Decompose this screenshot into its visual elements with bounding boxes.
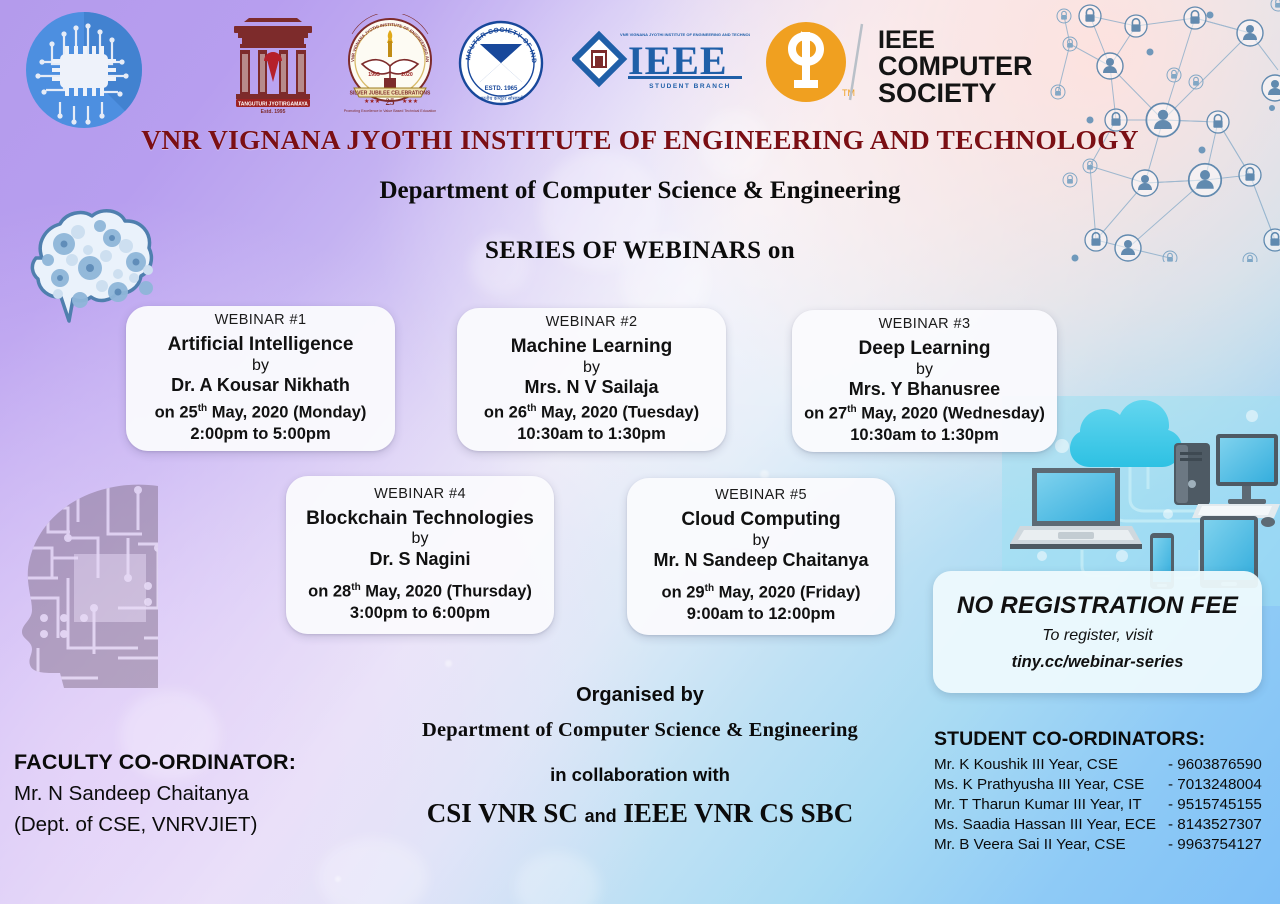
registration-link[interactable]: tiny.cc/webinar-series xyxy=(1012,653,1184,672)
registration-box: NO REGISTRATION FEE To register, visit t… xyxy=(933,571,1262,693)
webinar-by-label: by xyxy=(802,360,1047,380)
webinar-topic: Cloud Computing xyxy=(637,509,885,531)
svg-text:★★★: ★★★ xyxy=(364,98,380,105)
student-name: Mr. T Tharun Kumar III Year, IT xyxy=(934,794,1156,814)
svg-text:1995: 1995 xyxy=(368,72,380,78)
organised-by-label: Organised by xyxy=(330,684,950,707)
webinar-number: WEBINAR #4 xyxy=(296,486,544,502)
svg-text:COMPUTER: COMPUTER xyxy=(878,51,1033,81)
student-coordinators-heading: STUDENT CO-ORDINATORS: xyxy=(934,728,1262,751)
bokeh-dot xyxy=(335,876,341,882)
svg-text:25: 25 xyxy=(386,97,396,107)
svg-text:भारतीय कंप्यूटर सोसाइटी: भारतीय कंप्यूटर सोसाइटी xyxy=(478,95,524,102)
webinar-by-label: by xyxy=(637,531,885,551)
webinar-speaker: Mrs. Y Bhanusree xyxy=(802,379,1047,400)
svg-text:SILVER JUBILEE CELEBRATIONS: SILVER JUBILEE CELEBRATIONS xyxy=(350,91,431,97)
ieee-student-branch-logo: VNR VIGNANA JYOTHI INSTITUTE OF ENGINEER… xyxy=(572,26,750,92)
student-phone: - 7013248004 xyxy=(1156,774,1262,794)
collaboration-label: in collaboration with xyxy=(330,764,950,786)
webinar-card: WEBINAR #3 Deep Learning by Mrs. Y Bhanu… xyxy=(792,310,1057,452)
webinar-date: on 26th May, 2020 (Tuesday) xyxy=(467,402,716,424)
webinar-topic: Deep Learning xyxy=(802,338,1047,360)
collaborator-csi: CSI VNR SC xyxy=(427,798,578,828)
table-row: Ms. Saadia Hassan III Year, ECE - 814352… xyxy=(934,814,1262,834)
webinar-number: WEBINAR #5 xyxy=(637,487,885,503)
webinar-time: 2:00pm to 5:00pm xyxy=(136,424,385,445)
organising-department: Department of Computer Science & Enginee… xyxy=(330,719,950,742)
webinar-speaker: Dr. S Nagini xyxy=(296,549,544,570)
table-row: Ms. K Prathyusha III Year, CSE - 7013248… xyxy=(934,774,1262,794)
webinar-speaker: Mrs. N V Sailaja xyxy=(467,377,716,398)
faculty-coordinator-affiliation: (Dept. of CSE, VNRVJIET) xyxy=(14,813,296,837)
svg-text:2020: 2020 xyxy=(401,72,413,78)
organised-by-block: Organised by Department of Computer Scie… xyxy=(330,684,950,829)
webinar-date: on 27th May, 2020 (Wednesday) xyxy=(802,403,1047,425)
webinar-time: 10:30am to 1:30pm xyxy=(467,424,716,445)
circuit-head-icon xyxy=(8,478,196,688)
vnrvjiet-silver-jubilee-logo: 1995 2020 VNR VIGNANA JYOTHI INSTITUTE O… xyxy=(344,14,436,114)
student-phone: - 9603876590 xyxy=(1156,754,1262,774)
webinar-speaker: Dr. A Kousar Nikhath xyxy=(136,375,385,396)
institute-title: VNR VIGNANA JYOTHI INSTITUTE OF ENGINEER… xyxy=(0,124,1280,156)
department-title: Department of Computer Science & Enginee… xyxy=(0,177,1280,205)
faculty-coordinator-heading: FACULTY CO-ORDINATOR: xyxy=(14,750,296,775)
webinar-by-label: by xyxy=(467,358,716,378)
collaborator-conjunction: and xyxy=(585,806,617,826)
webinar-time: 10:30am to 1:30pm xyxy=(802,425,1047,446)
webinar-time: 3:00pm to 6:00pm xyxy=(296,603,544,624)
faculty-coordinator-block: FACULTY CO-ORDINATOR: Mr. N Sandeep Chai… xyxy=(14,750,296,837)
svg-text:TM: TM xyxy=(842,88,855,98)
series-heading: SERIES OF WEBINARS on xyxy=(0,237,1280,265)
webinar-time: 9:00am to 12:00pm xyxy=(637,604,885,625)
webinar-speaker: Mr. N Sandeep Chaitanya xyxy=(637,550,885,571)
student-name: Ms. K Prathyusha III Year, CSE xyxy=(934,774,1156,794)
tanguturi-jyothirgamaya-logo: TANGUTURI JYOTIRGAMAYA Estd. 1995 xyxy=(228,16,318,114)
registration-fee-text: NO REGISTRATION FEE xyxy=(957,592,1238,620)
svg-text:TANGUTURI JYOTIRGAMAYA: TANGUTURI JYOTIRGAMAYA xyxy=(238,102,308,108)
webinar-date: on 25th May, 2020 (Monday) xyxy=(136,402,385,424)
webinar-number: WEBINAR #3 xyxy=(802,316,1047,332)
faculty-coordinator-name: Mr. N Sandeep Chaitanya xyxy=(14,782,296,806)
student-name: Mr. B Veera Sai II Year, CSE xyxy=(934,834,1156,854)
student-name: Mr. K Koushik III Year, CSE xyxy=(934,754,1156,774)
webinar-card: WEBINAR #4 Blockchain Technologies by Dr… xyxy=(286,476,554,634)
webinar-date: on 28th May, 2020 (Thursday) xyxy=(296,581,544,603)
table-row: Mr. B Veera Sai II Year, CSE - 996375412… xyxy=(934,834,1262,854)
webinar-number: WEBINAR #1 xyxy=(136,312,385,328)
webinar-topic: Artificial Intelligence xyxy=(136,334,385,356)
ieee-computer-society-logo: TM IEEE COMPUTER SOCIETY xyxy=(762,18,1034,106)
registration-instruction: To register, visit xyxy=(1042,627,1153,645)
webinar-number: WEBINAR #2 xyxy=(467,314,716,330)
student-phone: - 8143527307 xyxy=(1156,814,1262,834)
webinar-by-label: by xyxy=(136,356,385,376)
table-row: Mr. K Koushik III Year, CSE - 9603876590 xyxy=(934,754,1262,774)
bokeh-blob xyxy=(318,838,428,904)
svg-text:ESTD. 1965: ESTD. 1965 xyxy=(485,86,518,92)
collaborator-ieee: IEEE VNR CS SBC xyxy=(623,798,853,828)
webinar-topic: Blockchain Technologies xyxy=(296,508,544,530)
svg-text:STUDENT BRANCH: STUDENT BRANCH xyxy=(649,83,731,90)
bokeh-dot xyxy=(445,660,452,667)
svg-text:Promoting Excellence in Value: Promoting Excellence in Value Based Tech… xyxy=(344,109,436,113)
csi-logo: COMPUTER SOCIETY OF INDIA ESTD. 1965 भार… xyxy=(458,20,544,106)
svg-text:IEEE: IEEE xyxy=(878,26,935,54)
header-logos: TANGUTURI JYOTIRGAMAYA Estd. 1995 1995 2… xyxy=(0,0,1280,118)
svg-text:Estd. 1995: Estd. 1995 xyxy=(261,109,286,114)
webinar-by-label: by xyxy=(296,529,544,549)
svg-text:VNR VIGNANA JYOTHI INSTITUTE O: VNR VIGNANA JYOTHI INSTITUTE OF ENGINEER… xyxy=(620,32,750,37)
student-coordinators-block: STUDENT CO-ORDINATORS: Mr. K Koushik III… xyxy=(934,728,1262,854)
webinar-poster: TANGUTURI JYOTIRGAMAYA Estd. 1995 1995 2… xyxy=(0,0,1280,904)
bokeh-blob xyxy=(515,852,600,904)
webinar-topic: Machine Learning xyxy=(467,336,716,358)
student-coordinators-table: Mr. K Koushik III Year, CSE - 9603876590… xyxy=(934,754,1262,854)
svg-text:★★★: ★★★ xyxy=(402,98,418,105)
table-row: Mr. T Tharun Kumar III Year, IT - 951574… xyxy=(934,794,1262,814)
webinar-card: WEBINAR #5 Cloud Computing by Mr. N Sand… xyxy=(627,478,895,635)
student-name: Ms. Saadia Hassan III Year, ECE xyxy=(934,814,1156,834)
student-phone: - 9515745155 xyxy=(1156,794,1262,814)
webinar-card: WEBINAR #1 Artificial Intelligence by Dr… xyxy=(126,306,395,451)
collaborators: CSI VNR SC and IEEE VNR CS SBC xyxy=(330,798,950,829)
cpu-chip-icon xyxy=(12,6,152,138)
student-phone: - 9963754127 xyxy=(1156,834,1262,854)
webinar-date: on 29th May, 2020 (Friday) xyxy=(637,582,885,604)
webinar-card: WEBINAR #2 Machine Learning by Mrs. N V … xyxy=(457,308,726,451)
svg-text:SOCIETY: SOCIETY xyxy=(878,78,997,106)
